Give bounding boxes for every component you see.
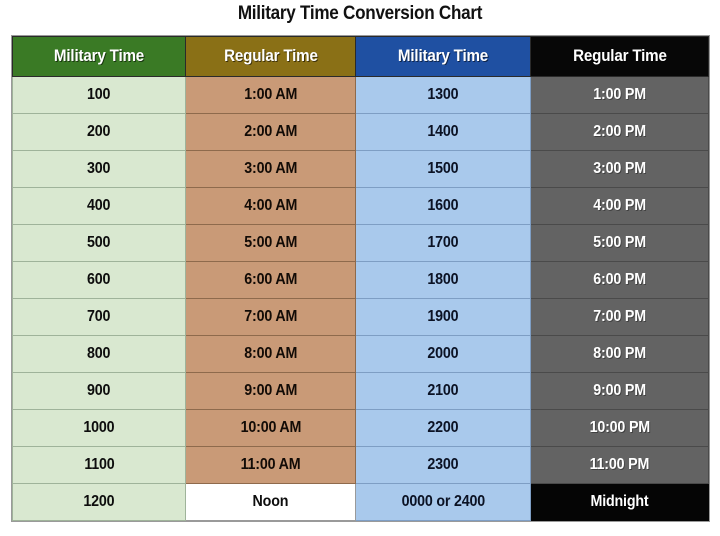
cell-value: 300 [87, 160, 110, 178]
table-row: 800 8:00 AM 2000 8:00 PM [13, 336, 709, 373]
cell-value: 10:00 PM [589, 419, 649, 437]
column-header-regular-time-am: Regular Time [186, 37, 356, 77]
cell-regular-time-am: 4:00 AM [186, 188, 356, 225]
cell-regular-time-pm: 6:00 PM [531, 262, 709, 299]
cell-regular-time-am: 5:00 AM [186, 225, 356, 262]
cell-value: 4:00 PM [593, 197, 646, 215]
cell-value: 1800 [428, 271, 459, 289]
table-row: 100 1:00 AM 1300 1:00 PM [13, 77, 709, 114]
cell-value: 0000 or 2400 [401, 493, 484, 511]
column-header-regular-time-pm: Regular Time [531, 37, 709, 77]
cell-value: 11:00 AM [241, 456, 301, 474]
cell-regular-time-am: 9:00 AM [186, 373, 356, 410]
cell-value: 900 [87, 382, 110, 400]
column-header-label: Military Time [54, 47, 144, 66]
cell-value: 6:00 PM [593, 271, 646, 289]
cell-value: 9:00 AM [244, 382, 297, 400]
cell-value: 1200 [84, 493, 115, 511]
cell-regular-time-pm: 5:00 PM [531, 225, 709, 262]
cell-regular-time-pm: 8:00 PM [531, 336, 709, 373]
cell-military-time-pm: 1700 [356, 225, 531, 262]
cell-regular-time-am: 3:00 AM [186, 151, 356, 188]
cell-value: 6:00 AM [244, 271, 297, 289]
cell-value: Midnight [591, 493, 649, 511]
table-header-row: Military Time Regular Time Military Time… [13, 37, 709, 77]
cell-value: 9:00 PM [593, 382, 646, 400]
military-time-conversion-table: Military Time Regular Time Military Time… [12, 36, 709, 521]
cell-regular-time-pm: 3:00 PM [531, 151, 709, 188]
cell-military-time-pm: 2100 [356, 373, 531, 410]
cell-value: 1400 [428, 123, 459, 141]
cell-regular-time-pm: 9:00 PM [531, 373, 709, 410]
cell-value: 4:00 AM [244, 197, 297, 215]
column-header-military-time-am: Military Time [13, 37, 186, 77]
cell-value: 1100 [84, 456, 114, 474]
cell-value: 700 [87, 308, 110, 326]
cell-value: 1:00 AM [244, 86, 297, 104]
cell-value: 3:00 PM [593, 160, 646, 178]
cell-military-time-am: 1000 [13, 410, 186, 447]
cell-regular-time-pm: 2:00 PM [531, 114, 709, 151]
cell-value: 2000 [428, 345, 459, 363]
column-header-military-time-pm: Military Time [356, 37, 531, 77]
cell-value: 8:00 AM [244, 345, 297, 363]
cell-value: 8:00 PM [593, 345, 646, 363]
cell-value: 5:00 AM [244, 234, 297, 252]
column-header-label: Regular Time [573, 47, 667, 66]
cell-military-time-pm: 1400 [356, 114, 531, 151]
table-row: 900 9:00 AM 2100 9:00 PM [13, 373, 709, 410]
page-title: Military Time Conversion Chart [36, 3, 684, 25]
table-body: 100 1:00 AM 1300 1:00 PM 200 2:00 AM 140… [13, 77, 709, 521]
cell-military-time-pm: 1500 [356, 151, 531, 188]
cell-military-time-am: 700 [13, 299, 186, 336]
cell-value: 2:00 AM [244, 123, 297, 141]
cell-value: 3:00 AM [244, 160, 297, 178]
cell-value: 7:00 AM [244, 308, 297, 326]
table-row: 1100 11:00 AM 2300 11:00 PM [13, 447, 709, 484]
cell-regular-time-pm: 7:00 PM [531, 299, 709, 336]
cell-military-time-pm: 2200 [356, 410, 531, 447]
cell-military-time-am: 100 [13, 77, 186, 114]
cell-military-time-am: 900 [13, 373, 186, 410]
cell-regular-time-am: Noon [186, 484, 356, 521]
cell-value: 800 [87, 345, 110, 363]
column-header-label: Military Time [398, 47, 488, 66]
cell-military-time-am: 400 [13, 188, 186, 225]
cell-value: 1000 [84, 419, 115, 437]
cell-value: 11:00 PM [590, 456, 650, 474]
cell-regular-time-pm: 1:00 PM [531, 77, 709, 114]
cell-regular-time-pm: 4:00 PM [531, 188, 709, 225]
cell-regular-time-am: 2:00 AM [186, 114, 356, 151]
cell-regular-time-am: 8:00 AM [186, 336, 356, 373]
cell-military-time-pm: 0000 or 2400 [356, 484, 531, 521]
cell-military-time-pm: 1600 [356, 188, 531, 225]
cell-value: 1300 [428, 86, 459, 104]
cell-regular-time-am: 7:00 AM [186, 299, 356, 336]
cell-regular-time-am: 10:00 AM [186, 410, 356, 447]
cell-military-time-pm: 2300 [356, 447, 531, 484]
cell-value: 1500 [428, 160, 459, 178]
cell-military-time-pm: 2000 [356, 336, 531, 373]
cell-value: 10:00 AM [240, 419, 301, 437]
cell-military-time-pm: 1900 [356, 299, 531, 336]
cell-military-time-am: 200 [13, 114, 186, 151]
cell-military-time-am: 500 [13, 225, 186, 262]
cell-value: 600 [87, 271, 110, 289]
table-row: 300 3:00 AM 1500 3:00 PM [13, 151, 709, 188]
cell-regular-time-am: 11:00 AM [186, 447, 356, 484]
cell-military-time-pm: 1300 [356, 77, 531, 114]
cell-value: 7:00 PM [593, 308, 646, 326]
cell-value: 500 [87, 234, 110, 252]
cell-regular-time-pm: Midnight [531, 484, 709, 521]
table-header: Military Time Regular Time Military Time… [13, 37, 709, 77]
cell-regular-time-am: 1:00 AM [186, 77, 356, 114]
cell-value: 1700 [428, 234, 459, 252]
cell-value: 2:00 PM [593, 123, 646, 141]
cell-value: 2300 [428, 456, 459, 474]
table-row: 1000 10:00 AM 2200 10:00 PM [13, 410, 709, 447]
cell-regular-time-pm: 10:00 PM [531, 410, 709, 447]
cell-military-time-am: 600 [13, 262, 186, 299]
cell-value: Noon [253, 493, 289, 511]
cell-regular-time-pm: 11:00 PM [531, 447, 709, 484]
cell-value: 400 [87, 197, 110, 215]
cell-value: 1:00 PM [593, 86, 646, 104]
cell-value: 100 [87, 86, 110, 104]
table-row: 600 6:00 AM 1800 6:00 PM [13, 262, 709, 299]
table-row: 500 5:00 AM 1700 5:00 PM [13, 225, 709, 262]
table-row: 1200 Noon 0000 or 2400 Midnight [13, 484, 709, 521]
cell-military-time-am: 1200 [13, 484, 186, 521]
cell-military-time-am: 800 [13, 336, 186, 373]
cell-military-time-am: 1100 [13, 447, 186, 484]
cell-military-time-pm: 1800 [356, 262, 531, 299]
table-row: 400 4:00 AM 1600 4:00 PM [13, 188, 709, 225]
cell-value: 5:00 PM [593, 234, 646, 252]
cell-value: 2100 [428, 382, 459, 400]
page-root: Military Time Conversion Chart Military … [0, 0, 720, 536]
table-row: 700 7:00 AM 1900 7:00 PM [13, 299, 709, 336]
cell-regular-time-am: 6:00 AM [186, 262, 356, 299]
cell-value: 1600 [428, 197, 459, 215]
cell-value: 1900 [428, 308, 459, 326]
cell-value: 2200 [428, 419, 459, 437]
column-header-label: Regular Time [224, 47, 318, 66]
table-row: 200 2:00 AM 1400 2:00 PM [13, 114, 709, 151]
cell-military-time-am: 300 [13, 151, 186, 188]
cell-value: 200 [87, 123, 110, 141]
